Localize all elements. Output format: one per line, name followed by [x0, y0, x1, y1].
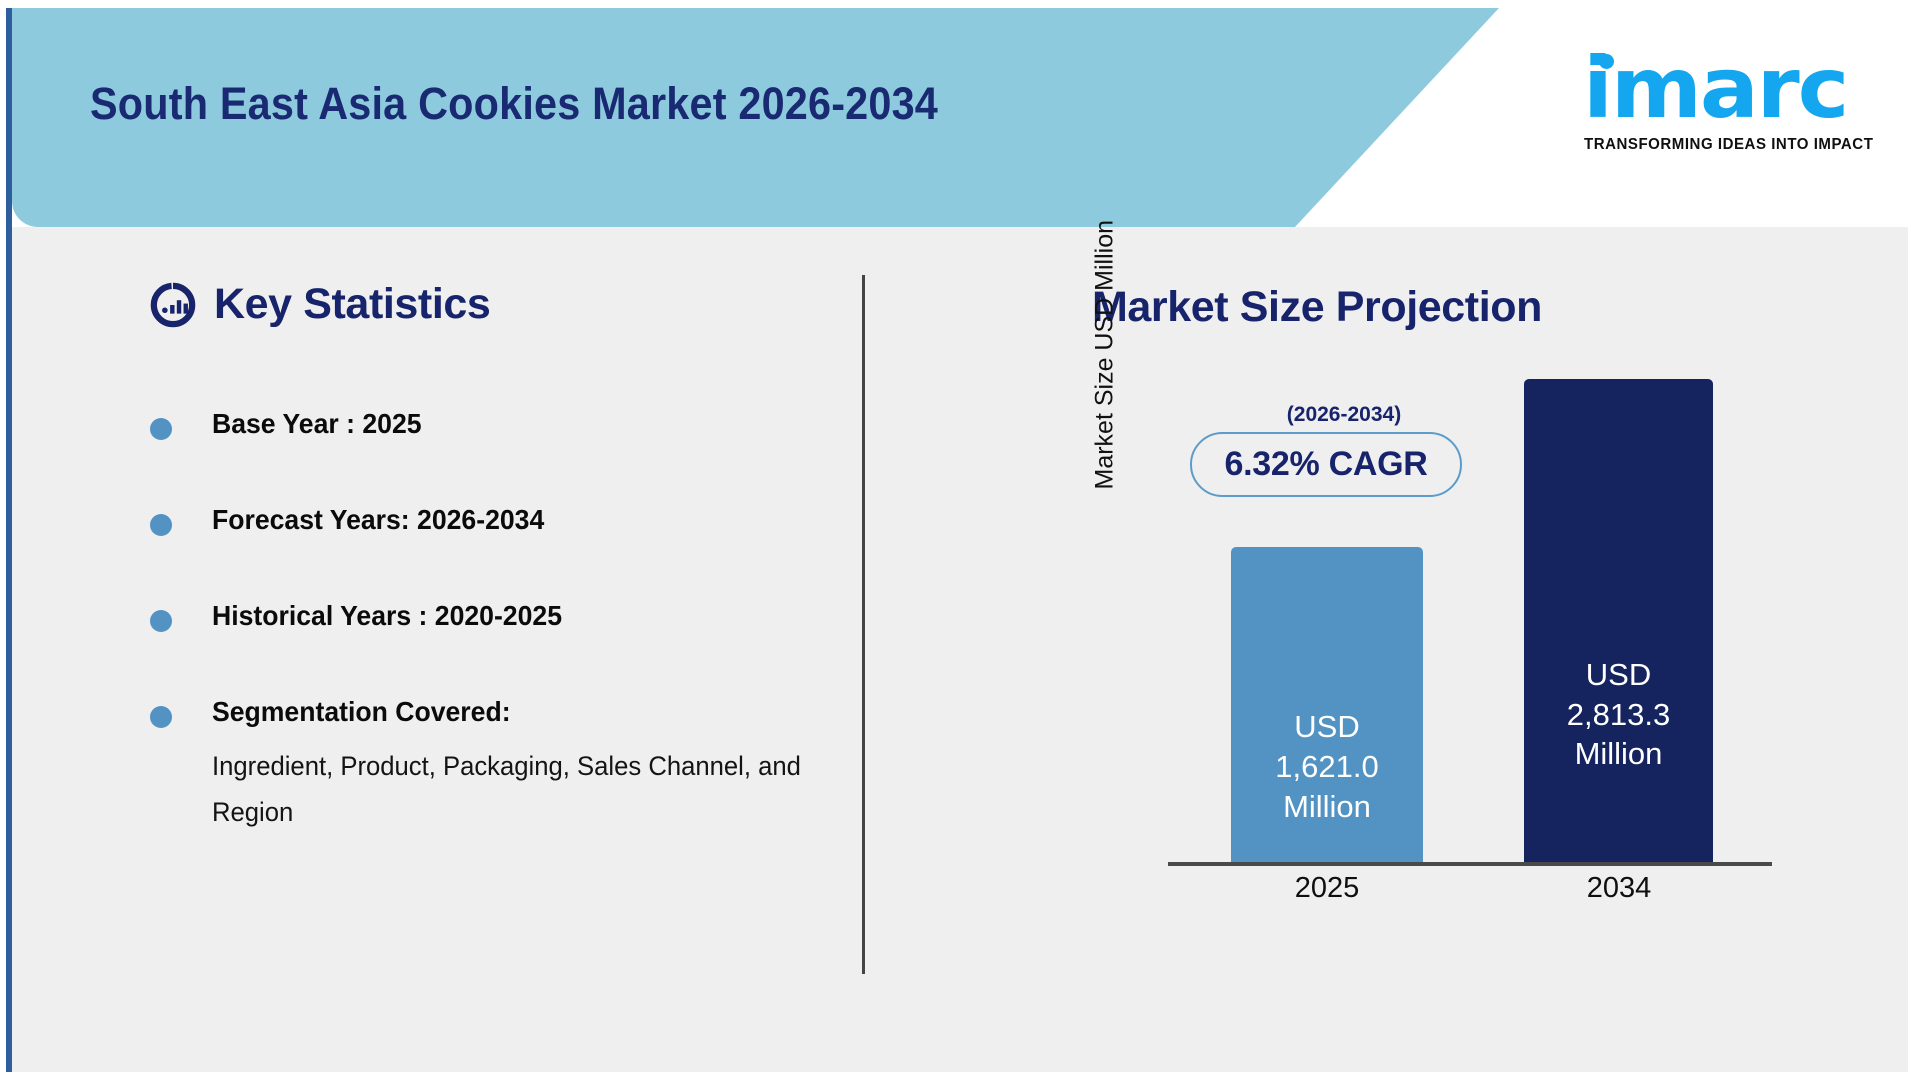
- bullet-dot-icon: [150, 418, 172, 440]
- x-tick-2025: 2025: [1227, 872, 1427, 905]
- bullet-dot-icon: [150, 610, 172, 632]
- bar-chart-circle-icon: [150, 282, 196, 328]
- bar-2025: USD 1,621.0 Million: [1231, 547, 1423, 862]
- list-item: Forecast Years: 2026-2034: [150, 502, 810, 562]
- page-title: South East Asia Cookies Market 2026-2034: [90, 78, 1148, 130]
- cagr-value: 6.32% CAGR: [1225, 445, 1428, 484]
- cagr-badge: 6.32% CAGR: [1190, 432, 1462, 497]
- bar-2034: USD 2,813.3 Million: [1524, 379, 1713, 862]
- list-item-label: Forecast Years: 2026-2034: [212, 502, 780, 537]
- list-item-detail: Ingredient, Product, Packaging, Sales Ch…: [212, 743, 820, 836]
- logo-wordmark: imarc: [1583, 46, 1847, 130]
- key-statistics-list: Base Year : 2025 Forecast Years: 2026-20…: [150, 406, 810, 836]
- bar-2034-value-label: USD 2,813.3 Million: [1567, 655, 1670, 774]
- infographic-canvas: South East Asia Cookies Market 2026-2034…: [0, 0, 1920, 1080]
- key-statistics-header: Key Statistics: [150, 280, 490, 329]
- chart-x-axis: [1168, 862, 1772, 866]
- list-item: Segmentation Covered: Ingredient, Produc…: [150, 694, 810, 836]
- cagr-period-label: (2026-2034): [1254, 403, 1434, 427]
- chart-title: Market Size Projection: [1092, 283, 1542, 332]
- column-divider: [862, 275, 865, 974]
- list-item-label: Base Year : 2025: [212, 406, 780, 441]
- chart-y-axis-label: Market Size USD Million: [1091, 450, 1120, 490]
- x-tick-2034: 2034: [1519, 872, 1719, 905]
- logo-dot-icon: [1599, 54, 1614, 69]
- logo-tagline: TRANSFORMING IDEAS INTO IMPACT: [1584, 136, 1873, 154]
- bullet-dot-icon: [150, 514, 172, 536]
- imarc-logo: imarc TRANSFORMING IDEAS INTO IMPACT: [1583, 40, 1851, 150]
- key-statistics-title: Key Statistics: [214, 280, 490, 329]
- bar-2025-value-label: USD 1,621.0 Million: [1275, 707, 1378, 826]
- bullet-dot-icon: [150, 706, 172, 728]
- list-item-label: Segmentation Covered:: [212, 694, 780, 729]
- list-item: Historical Years : 2020-2025: [150, 598, 810, 658]
- list-item-label: Historical Years : 2020-2025: [212, 598, 780, 633]
- list-item: Base Year : 2025: [150, 406, 810, 466]
